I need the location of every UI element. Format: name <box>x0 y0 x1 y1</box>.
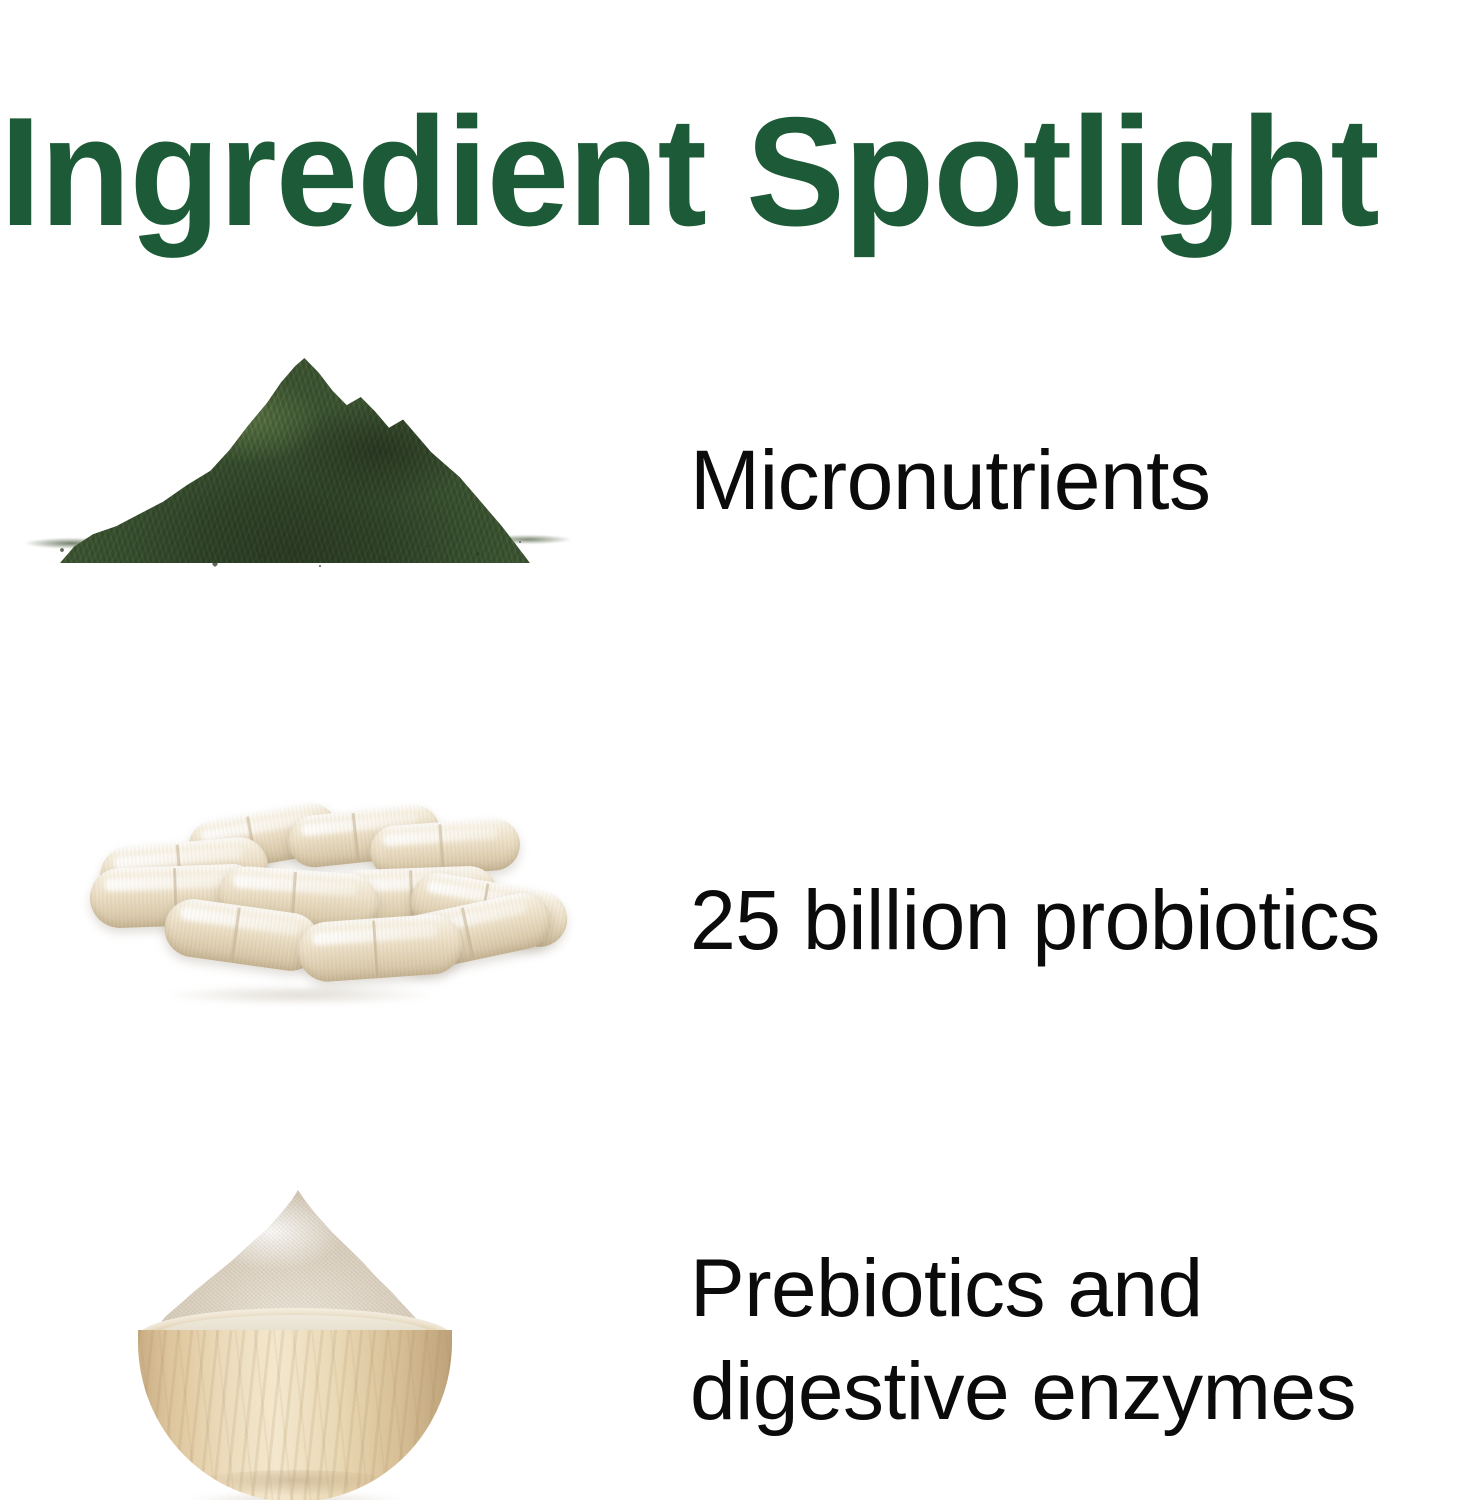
spotlight-image-bowl <box>0 1180 660 1500</box>
spotlight-label-cell: 25 billion probiotics <box>660 869 1475 971</box>
spotlight-row: 25 billion probiotics <box>0 790 1475 1050</box>
capsules-shadow <box>100 978 500 1012</box>
spotlight-image-green-powder <box>0 330 660 630</box>
spotlight-label-cell: Prebiotics and digestive enzymes <box>660 1237 1475 1444</box>
spotlight-label: Micronutrients <box>690 429 1475 531</box>
bowl-body <box>138 1330 452 1500</box>
capsule-joint <box>438 824 444 872</box>
capsule <box>296 912 464 983</box>
green-powder-illustration <box>0 350 600 600</box>
spotlight-label-cell: Micronutrients <box>660 429 1475 531</box>
capsule-joint <box>352 813 360 861</box>
ingredient-spotlight-panel: Ingredient Spotlight Micronutrients <box>0 0 1475 1500</box>
capsule-joint <box>372 921 379 976</box>
bowl-illustration <box>130 1190 460 1490</box>
capsule-joint <box>461 907 475 958</box>
page-title: Ingredient Spotlight <box>0 94 1409 249</box>
powder-specks <box>0 528 600 578</box>
capsules-illustration <box>70 808 570 1023</box>
spotlight-label: Prebiotics and digestive enzymes <box>690 1237 1475 1444</box>
spotlight-image-capsules <box>0 790 660 1050</box>
spotlight-label: 25 billion probiotics <box>690 869 1459 971</box>
capsule-joint <box>230 907 240 960</box>
spotlight-row: Micronutrients <box>0 330 1475 630</box>
spotlight-row: Prebiotics and digestive enzymes <box>0 1180 1475 1500</box>
